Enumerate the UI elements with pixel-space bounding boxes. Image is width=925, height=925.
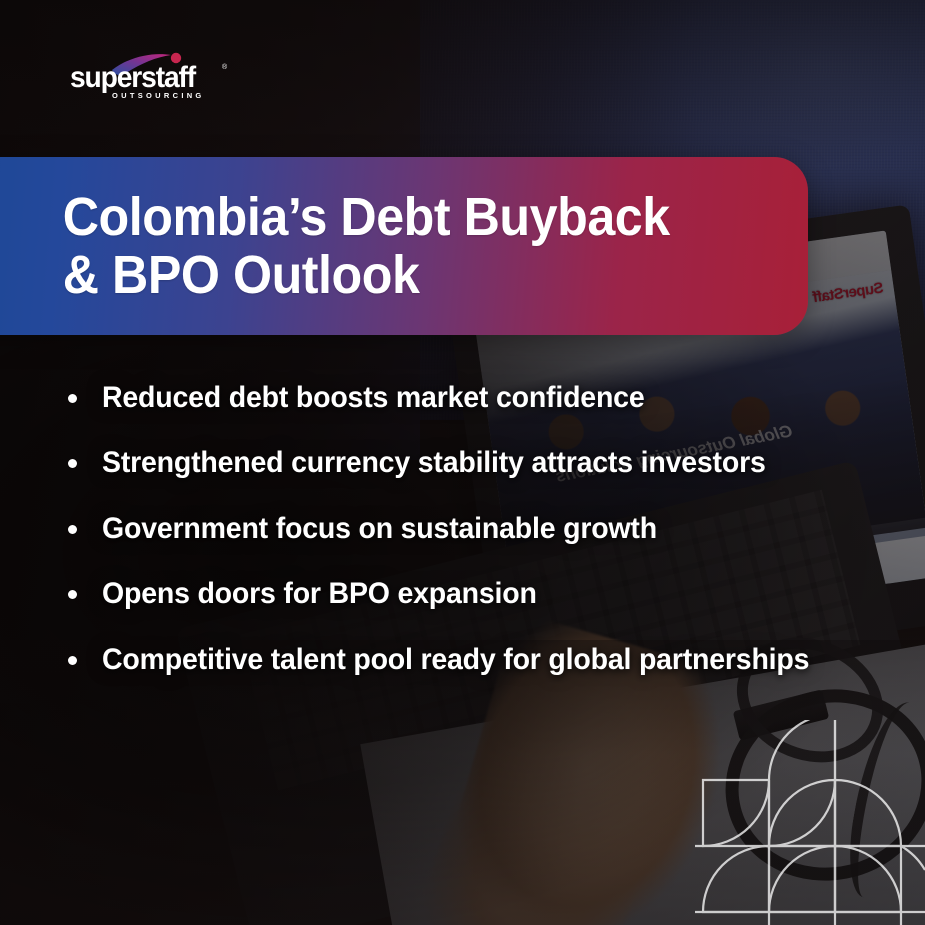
bullet-dot-icon [68, 525, 77, 534]
list-item: Government focus on sustainable growth [62, 511, 882, 546]
bullet-dot-icon [68, 394, 77, 403]
key-points-list: Reduced debt boosts market confidence St… [62, 380, 882, 707]
title-banner: Colombia’s Debt Buyback & BPO Outlook [0, 157, 808, 335]
logo-artwork: superstaff ® OUTSOURCING [70, 52, 235, 100]
logo-tagline: OUTSOURCING [112, 91, 205, 100]
list-item-label: Government focus on sustainable growth [102, 511, 657, 546]
list-item-label: Strengthened currency stability attracts… [102, 445, 766, 480]
bullet-dot-icon [68, 590, 77, 599]
logo-wordmark: superstaff [70, 61, 196, 94]
list-item: Competitive talent pool ready for global… [62, 642, 882, 677]
page-title: Colombia’s Debt Buyback & BPO Outlook [0, 188, 670, 305]
list-item: Reduced debt boosts market confidence [62, 380, 882, 415]
list-item-label: Competitive talent pool ready for global… [102, 642, 809, 677]
bullet-dot-icon [68, 656, 77, 665]
superstaff-logo[interactable]: superstaff ® OUTSOURCING [70, 52, 235, 100]
registered-mark: ® [222, 63, 228, 71]
list-item: Opens doors for BPO expansion [62, 576, 882, 611]
bullet-dot-icon [68, 459, 77, 468]
social-card: SuperStaff Global Outsourcing Solutions [0, 0, 925, 925]
list-item-label: Opens doors for BPO expansion [102, 576, 537, 611]
list-item-label: Reduced debt boosts market confidence [102, 380, 645, 415]
list-item: Strengthened currency stability attracts… [62, 445, 882, 480]
